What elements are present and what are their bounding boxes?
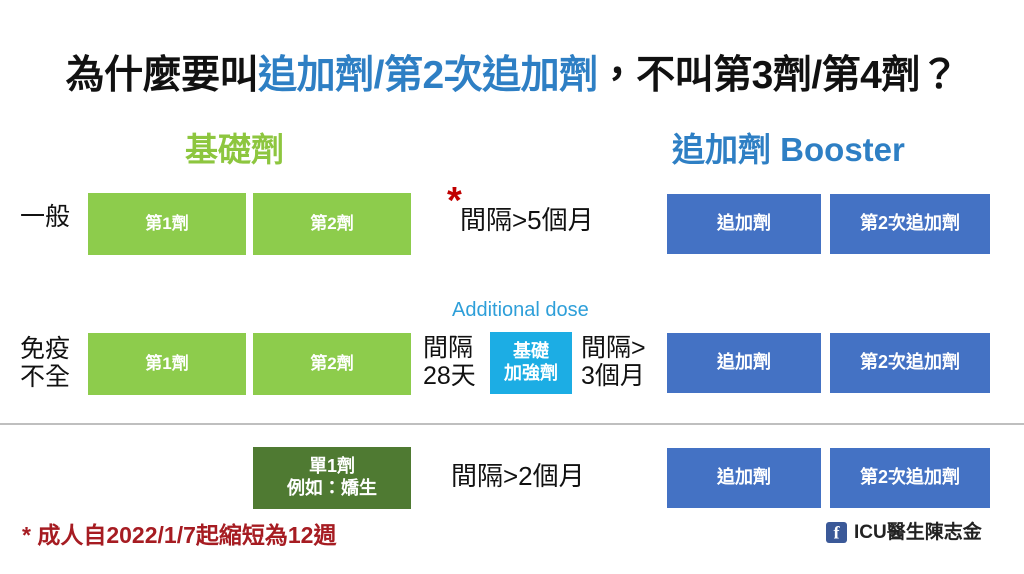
row-label-immuno-line-1: 免疫 <box>20 335 70 363</box>
title-part-3: ，不叫第3劑/第4劑？ <box>598 54 959 97</box>
dose-box-r1-primary-2: 第2劑 <box>253 193 411 255</box>
facebook-credit[interactable]: ICU醫生陳志金 <box>826 522 982 543</box>
dose-box-additional-dose: 基礎加強劑 <box>490 332 572 394</box>
dose-box-r2-booster-2: 第2次追加劑 <box>830 333 990 393</box>
dose-box-r1-primary-1: 第1劑 <box>88 193 246 255</box>
interval-text-r1: 間隔>5個月 <box>460 206 594 235</box>
title-part-1: 為什麼要叫 <box>66 54 259 97</box>
page-title: 為什麼要叫追加劑/第2次追加劑，不叫第3劑/第4劑？ <box>0 55 1024 98</box>
section-heading-booster: 追加劑 Booster <box>672 133 905 166</box>
interval-before-line-2: 28天 <box>423 362 476 390</box>
dose-box-r1-booster-2: 第2次追加劑 <box>830 194 990 254</box>
interval-text-r3: 間隔>2個月 <box>451 462 585 491</box>
dose-box-r3-single-dose: 單1劑例如：嬌生 <box>253 447 411 509</box>
additional-dose-caption: Additional dose <box>452 300 589 320</box>
section-heading-primary-series: 基礎劑 <box>185 133 284 166</box>
interval-after-line-2: 3個月 <box>581 362 645 390</box>
additional-dose-line-2: 加強劑 <box>504 363 558 385</box>
additional-dose-line-1: 基礎 <box>513 341 549 363</box>
interval-before-line-1: 間隔 <box>423 334 473 362</box>
title-part-2-highlight: 追加劑/第2次追加劑 <box>258 54 598 97</box>
interval-after-additional-dose: 間隔>3個月 <box>581 334 646 390</box>
row-label-general: 一般 <box>20 203 70 231</box>
footnote-text: * 成人自2022/1/7起縮短為12週 <box>22 524 336 547</box>
dose-box-r3-booster-1: 追加劑 <box>667 448 821 508</box>
dose-box-r2-booster-1: 追加劑 <box>667 333 821 393</box>
dose-box-r1-booster-1: 追加劑 <box>667 194 821 254</box>
single-dose-line-2: 例如：嬌生 <box>287 478 377 500</box>
dose-box-r3-booster-2: 第2次追加劑 <box>830 448 990 508</box>
infographic-slide: 為什麼要叫追加劑/第2次追加劑，不叫第3劑/第4劑？ 基礎劑 追加劑 Boost… <box>0 0 1024 574</box>
interval-before-additional-dose: 間隔28天 <box>423 334 476 390</box>
dose-box-r2-primary-1: 第1劑 <box>88 333 246 395</box>
interval-after-line-1: 間隔> <box>581 334 646 362</box>
facebook-icon <box>826 522 847 543</box>
facebook-page-name: ICU醫生陳志金 <box>854 523 982 542</box>
row-label-immuno-line-2: 不全 <box>20 363 70 391</box>
single-dose-line-1: 單1劑 <box>309 456 355 478</box>
horizontal-divider <box>0 423 1024 425</box>
row-label-immunocompromised: 免疫不全 <box>20 335 70 391</box>
dose-box-r2-primary-2: 第2劑 <box>253 333 411 395</box>
